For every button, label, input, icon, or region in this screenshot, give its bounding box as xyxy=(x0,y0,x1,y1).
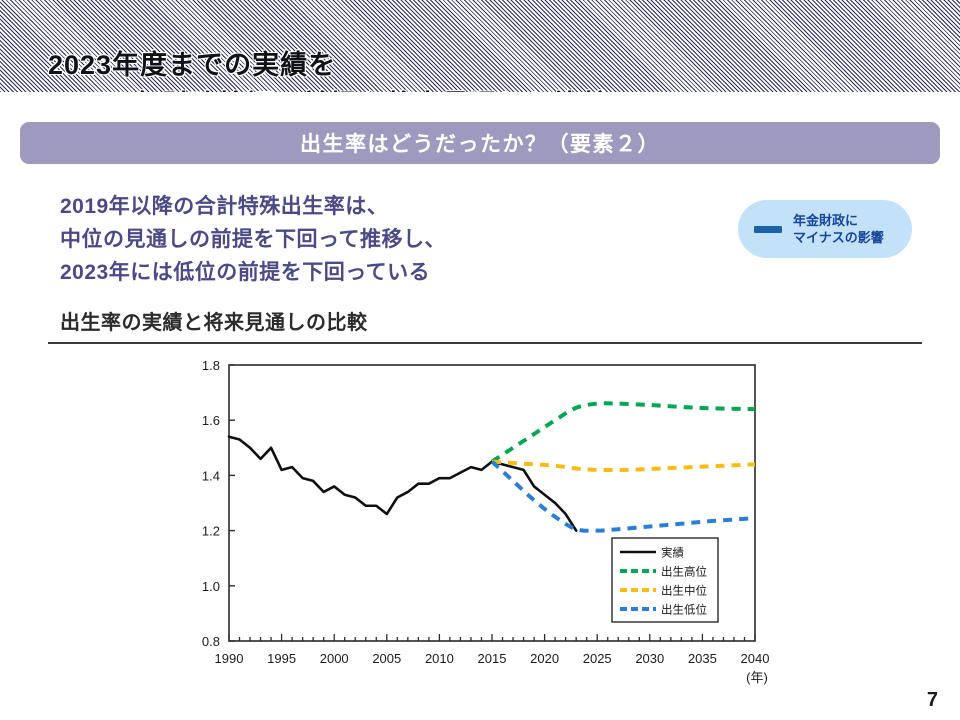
legend-label: 出生中位 xyxy=(661,584,707,598)
x-tick-label: 1995 xyxy=(267,651,296,666)
header-line-2: 2019年財政検証の前提や将来見通しと比較 xyxy=(48,85,610,92)
x-axis-tick-labels: 1990199520002005201020152020202520302035… xyxy=(215,651,770,666)
svg-text:(年): (年) xyxy=(746,670,768,685)
y-tick-label: 1.4 xyxy=(202,468,220,483)
impact-badge-label: 年金財政に マイナスの影響 xyxy=(793,212,884,246)
series-line xyxy=(229,437,576,531)
y-tick-label: 1.8 xyxy=(202,358,220,373)
impact-badge: 年金財政に マイナスの影響 xyxy=(738,200,912,258)
x-tick-label: 2040 xyxy=(741,651,770,666)
slide-header: 2023年度までの実績を 2019年財政検証の前提や将来見通しと比較 xyxy=(0,0,960,92)
series-line xyxy=(492,462,755,531)
x-tick-label: 2010 xyxy=(425,651,454,666)
y-axis-ticks xyxy=(229,365,235,641)
series-line xyxy=(492,462,755,470)
x-tick-label: 2035 xyxy=(688,651,717,666)
legend-label: 実績 xyxy=(661,546,684,560)
slide-root: 2023年度までの実績を 2019年財政検証の前提や将来見通しと比較 出生率はど… xyxy=(0,0,960,720)
y-tick-label: 1.0 xyxy=(202,579,220,594)
y-tick-label: 1.2 xyxy=(202,524,220,539)
chart-caption: 出生率の実績と将来見通しの比較 xyxy=(60,306,368,335)
x-tick-label: 2025 xyxy=(583,651,612,666)
x-tick-label: 2020 xyxy=(530,651,559,666)
x-tick-label: 2005 xyxy=(372,651,401,666)
chart-container: 0.81.01.21.41.61.8 199019952000200520102… xyxy=(0,352,960,692)
section-title-label: 出生率はどうだったか？（要素２） xyxy=(300,128,660,158)
x-tick-label: 2030 xyxy=(635,651,664,666)
slide-header-title: 2023年度までの実績を 2019年財政検証の前提や将来見通しと比較 xyxy=(48,5,610,92)
x-tick-label: 1990 xyxy=(215,651,244,666)
chart-caption-divider xyxy=(48,342,922,344)
legend-label: 出生低位 xyxy=(661,603,707,617)
x-tick-label: 2000 xyxy=(320,651,349,666)
legend-label: 出生高位 xyxy=(661,565,707,579)
page-number: 7 xyxy=(927,689,938,712)
x-axis-unit-label: (年) xyxy=(746,670,768,685)
section-title-bar: 出生率はどうだったか？（要素２） xyxy=(20,122,940,164)
y-axis-tick-labels: 0.81.01.21.41.61.8 xyxy=(202,358,220,649)
header-line-1: 2023年度までの実績を xyxy=(48,50,336,80)
fertility-rate-line-chart: 0.81.01.21.41.61.8 199019952000200520102… xyxy=(0,352,960,692)
y-tick-label: 1.6 xyxy=(202,413,220,428)
chart-legend: 実績出生高位出生中位出生低位 xyxy=(612,538,718,622)
y-tick-label: 0.8 xyxy=(202,634,220,649)
dash-icon xyxy=(754,226,782,233)
x-tick-label: 2015 xyxy=(478,651,507,666)
x-axis-ticks xyxy=(229,634,755,641)
lead-paragraph: 2019年以降の合計特殊出生率は、 中位の見通しの前提を下回って推移し、 202… xyxy=(60,190,446,289)
chart-series-layer xyxy=(229,403,755,531)
series-line xyxy=(492,403,755,461)
